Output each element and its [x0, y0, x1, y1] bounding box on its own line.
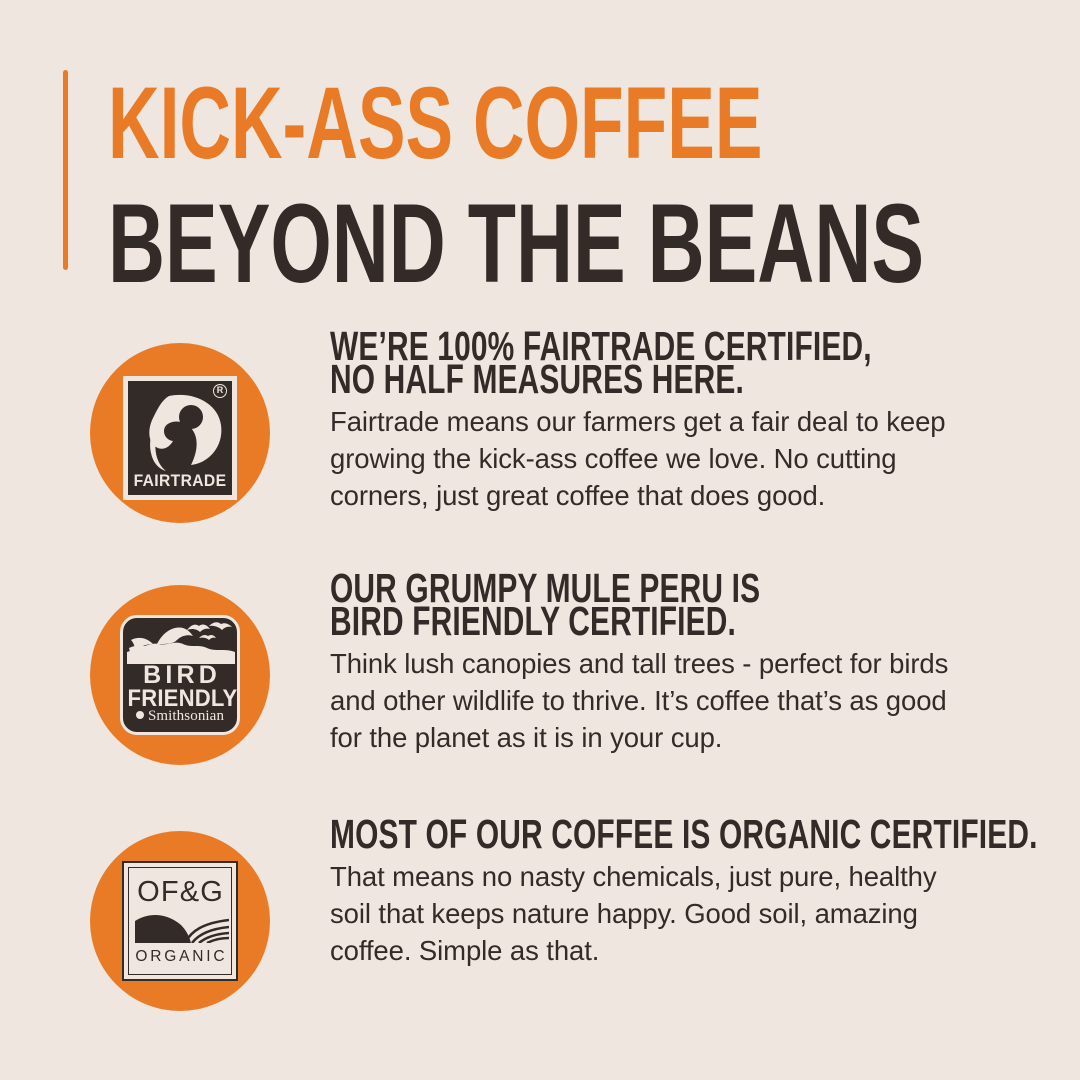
feature-heading-line: NO HALF MEASURES HERE.	[330, 363, 1020, 396]
feature-body-line: soil that keeps nature happy. Good soil,…	[330, 895, 1020, 932]
badge-circle-organic: OF&G ORGANIC	[90, 831, 270, 1011]
title-line-primary: KICK-ASS COFFEE	[108, 72, 770, 174]
feature-heading-line: BIRD FRIENDLY CERTIFIED.	[330, 605, 1020, 638]
feature-heading-fairtrade: WE’RE 100% FAIRTRADE CERTIFIED, NO HALF …	[330, 330, 1020, 396]
smithsonian-sun-icon	[136, 711, 144, 719]
feature-body-line: Think lush canopies and tall trees - per…	[330, 645, 1020, 682]
feature-text-fairtrade: WE’RE 100% FAIRTRADE CERTIFIED, NO HALF …	[330, 330, 1020, 514]
accent-bar	[63, 70, 68, 270]
field-furrows-icon	[135, 913, 229, 943]
bird-friendly-label-friendly: FRIENDLY	[128, 687, 233, 710]
feature-body-line: for the planet as it is in your cup.	[330, 719, 1020, 756]
badge-circle-bird-friendly: BIRD FRIENDLY Smithsonian	[90, 585, 270, 765]
feature-body-line: That means no nasty chemicals, just pure…	[330, 858, 1020, 895]
ofg-organic-icon: OF&G ORGANIC	[122, 861, 238, 981]
poster-canvas: KICK-ASS COFFEE BEYOND THE BEANS R FAIRT…	[0, 0, 1080, 1080]
badge-circle-fairtrade: R FAIRTRADE	[90, 343, 270, 523]
title-block: KICK-ASS COFFEE BEYOND THE BEANS	[108, 70, 1053, 300]
fairtrade-figure-icon	[135, 393, 231, 473]
organic-label: ORGANIC	[124, 948, 236, 966]
feature-body-line: Fairtrade means our farmers get a fair d…	[330, 403, 1020, 440]
feature-body-organic: That means no nasty chemicals, just pure…	[330, 858, 1020, 969]
feature-body-line: and other wildlife to thrive. It’s coffe…	[330, 682, 1020, 719]
feature-body-fairtrade: Fairtrade means our farmers get a fair d…	[330, 403, 1020, 514]
title-line-secondary: BEYOND THE BEANS	[108, 188, 774, 300]
smithsonian-text: Smithsonian	[148, 708, 224, 724]
feature-text-organic: MOST OF OUR COFFEE IS ORGANIC CERTIFIED.…	[330, 818, 1020, 969]
fairtrade-label: FAIRTRADE	[130, 471, 229, 491]
birds-canopy-icon	[127, 622, 235, 664]
bird-friendly-label-bird: BIRD	[123, 663, 237, 687]
bird-friendly-icon: BIRD FRIENDLY Smithsonian	[120, 615, 240, 735]
feature-body-line: corners, just great coffee that does goo…	[330, 477, 1020, 514]
poster-header: KICK-ASS COFFEE BEYOND THE BEANS	[63, 70, 1053, 270]
smithsonian-sub-label: Smithsonian	[123, 708, 237, 725]
feature-text-bird-friendly: OUR GRUMPY MULE PERU IS BIRD FRIENDLY CE…	[330, 572, 1020, 756]
feature-body-bird-friendly: Think lush canopies and tall trees - per…	[330, 645, 1020, 756]
feature-heading-bird-friendly: OUR GRUMPY MULE PERU IS BIRD FRIENDLY CE…	[330, 572, 1020, 638]
feature-body-line: coffee. Simple as that.	[330, 932, 1020, 969]
feature-body-line: growing the kick-ass coffee we love. No …	[330, 440, 1020, 477]
fairtrade-icon: R FAIRTRADE	[123, 376, 237, 500]
feature-heading-organic: MOST OF OUR COFFEE IS ORGANIC CERTIFIED.	[330, 818, 1020, 851]
ofg-label: OF&G	[124, 877, 236, 907]
feature-heading-line: MOST OF OUR COFFEE IS ORGANIC CERTIFIED.	[330, 818, 1020, 851]
